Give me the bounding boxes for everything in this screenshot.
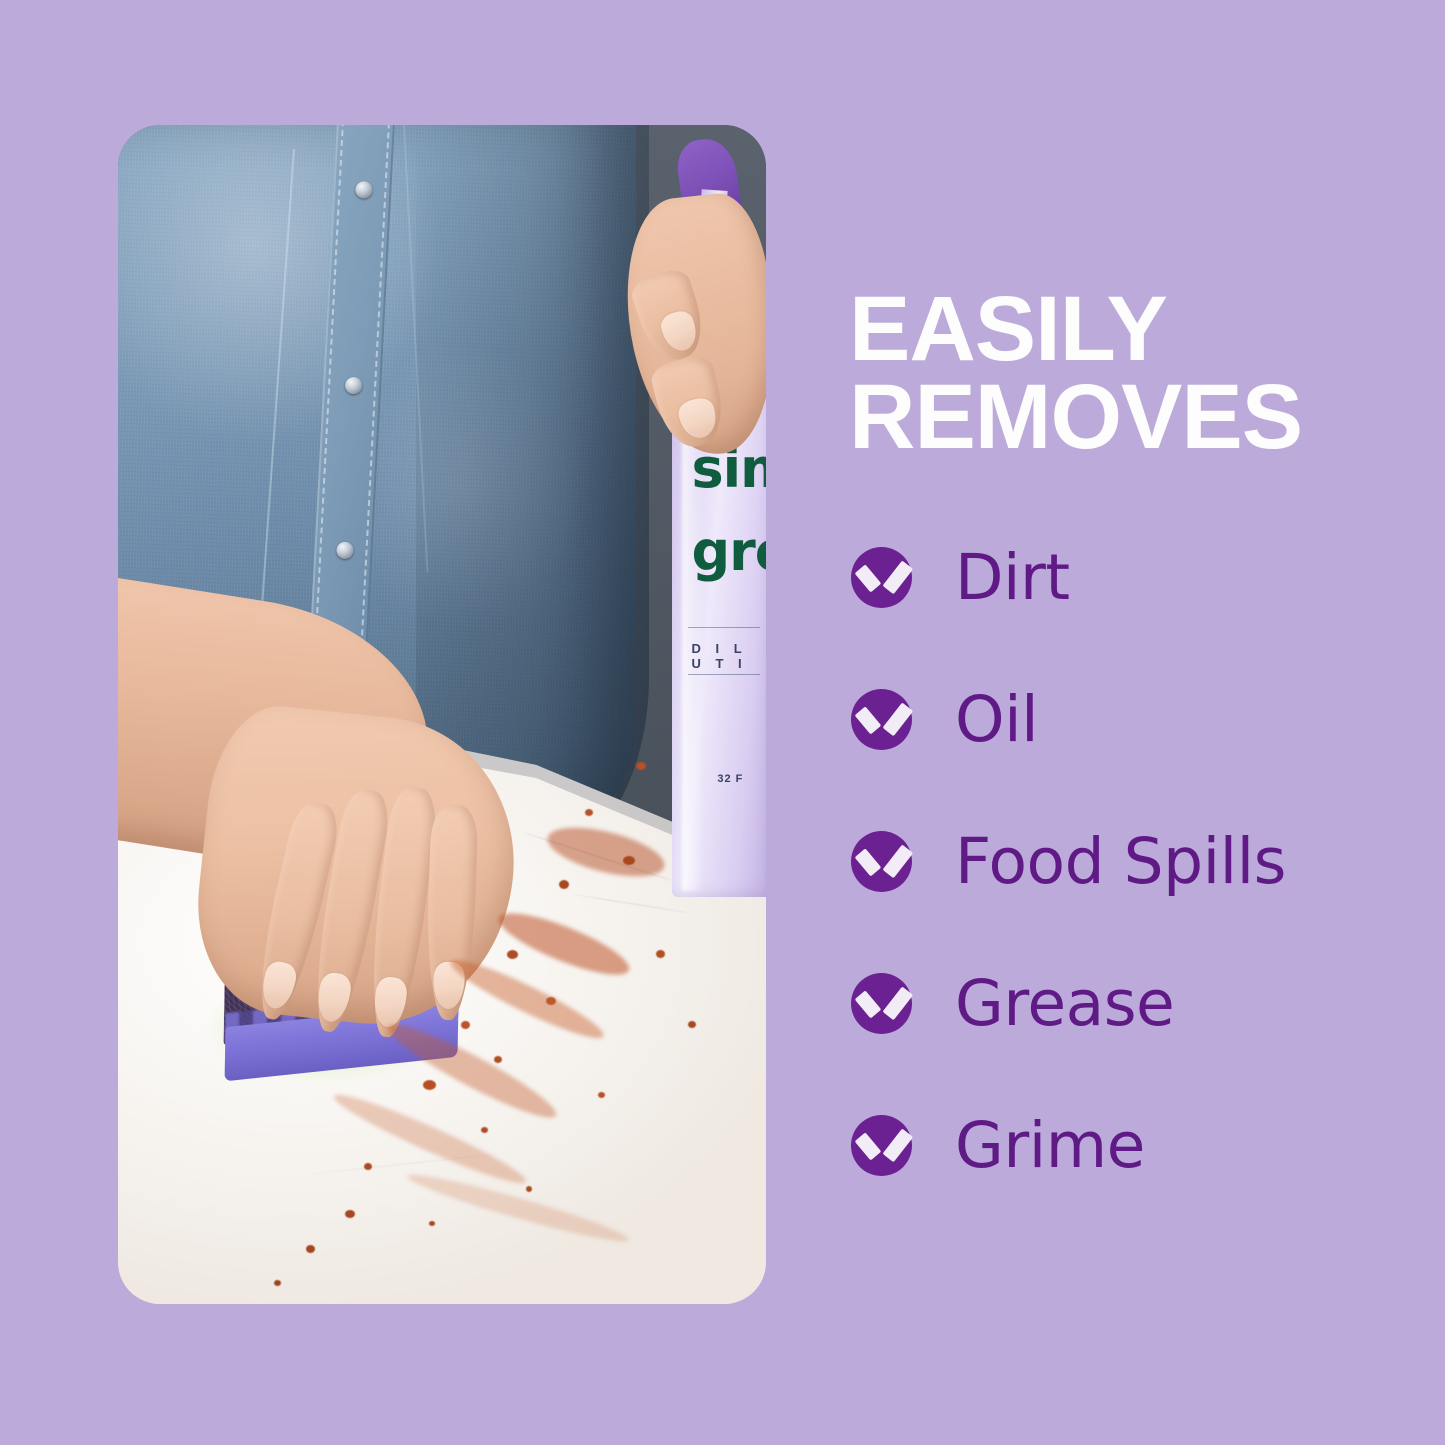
- stain-dot: [481, 1127, 488, 1133]
- check-circle-icon: [851, 1115, 912, 1176]
- list-item-label: Dirt: [955, 546, 1070, 609]
- fingernail: [314, 970, 353, 1024]
- fingernail: [658, 307, 702, 354]
- list-item: Grease: [851, 971, 1411, 1035]
- check-circle-icon: [851, 831, 912, 892]
- stain-dot: [345, 1210, 355, 1218]
- list-item-label: Grime: [955, 1114, 1145, 1177]
- product-infographic: sim gre D I L U T I 32 F: [0, 0, 1445, 1445]
- check-circle-icon: [851, 689, 912, 750]
- list-item: Dirt: [851, 545, 1411, 609]
- headline: EASILY REMOVES: [849, 285, 1409, 462]
- list-item: Oil: [851, 687, 1411, 751]
- check-circle-icon: [851, 973, 912, 1034]
- bottle-brand-line2: gre: [691, 520, 766, 583]
- benefits-list: Dirt Oil Food Spills Grease Grime: [851, 545, 1411, 1177]
- shirt-snap-button: [336, 542, 354, 560]
- check-circle-icon: [851, 547, 912, 608]
- list-item-label: Oil: [955, 688, 1038, 751]
- bottle-label-rule-top: [688, 627, 759, 628]
- shirt-snap-button: [355, 181, 373, 199]
- list-item: Food Spills: [851, 829, 1411, 893]
- list-item-label: Food Spills: [955, 830, 1286, 893]
- stain-dot: [585, 809, 593, 816]
- stain-dot: [423, 1080, 436, 1090]
- bottle-volume: 32 F: [717, 773, 743, 785]
- list-item-label: Grease: [955, 972, 1174, 1035]
- list-item: Grime: [851, 1113, 1411, 1177]
- headline-line-1: EASILY: [849, 278, 1167, 380]
- shirt-snap-button: [345, 377, 363, 395]
- stain-dot: [306, 1245, 315, 1253]
- stain-dot: [636, 762, 646, 770]
- fingernail: [675, 395, 720, 441]
- stain-dot: [559, 880, 569, 889]
- fingernail: [258, 959, 298, 1011]
- bottle-label-rule-bottom: [688, 674, 759, 675]
- product-photo: sim gre D I L U T I 32 F: [118, 125, 766, 1304]
- finger: [628, 264, 712, 366]
- bottle-subtitle: D I L U T I: [691, 641, 766, 671]
- stain-dot: [598, 1092, 605, 1098]
- headline-line-2: REMOVES: [849, 373, 1409, 461]
- stain-dot: [364, 1163, 372, 1170]
